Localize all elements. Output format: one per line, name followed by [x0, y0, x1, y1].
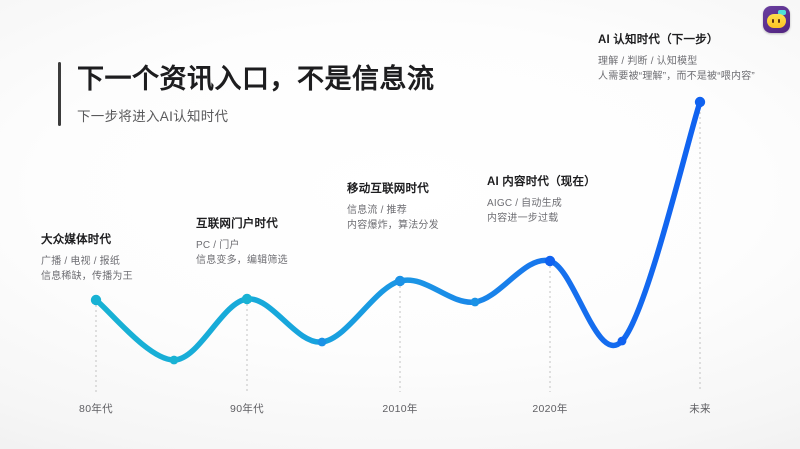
annotation-title: AI 认知时代（下一步） — [598, 32, 755, 48]
x-axis-tick-label: 80年代 — [79, 401, 113, 416]
slide-canvas: 下一个资讯入口，不是信息流 下一步将进入AI认知时代 80年代90年代2010年… — [0, 0, 800, 449]
annotation-group-1: 大众媒体时代 广播 / 电视 / 报纸 信息稀缺，传播为王 — [41, 232, 133, 284]
x-axis-tick-label: 90年代 — [230, 401, 264, 416]
annotation-group-4: AI 内容时代（现在） AIGC / 自动生成 内容进一步过载 — [487, 174, 596, 226]
annotation-line-1: PC / 门户 — [196, 238, 288, 253]
annotation-line-1: 理解 / 判断 / 认知模型 — [598, 54, 755, 69]
annotation-title: 互联网门户时代 — [196, 216, 288, 232]
annotation-line-1: 广播 / 电视 / 报纸 — [41, 254, 133, 269]
data-point-marker[interactable] — [471, 298, 480, 307]
data-point-marker[interactable] — [695, 97, 705, 107]
x-axis-tick-label: 未来 — [689, 401, 711, 416]
annotation-title: AI 内容时代（现在） — [487, 174, 596, 190]
annotation-line-2: 人需要被“理解”，而不是被“喂内容” — [598, 69, 755, 84]
annotation-line-1: 信息流 / 推荐 — [347, 203, 439, 218]
data-point-marker[interactable] — [91, 295, 101, 305]
data-point-marker[interactable] — [170, 356, 179, 365]
x-axis-tick-label: 2010年 — [382, 401, 417, 416]
callout-guide-lines — [96, 102, 700, 392]
annotation-group-5: AI 认知时代（下一步） 理解 / 判断 / 认知模型 人需要被“理解”，而不是… — [598, 32, 755, 84]
annotation-line-2: 信息稀缺，传播为王 — [41, 269, 133, 284]
data-point-marker[interactable] — [395, 276, 405, 286]
annotation-line-2: 信息变多，编辑筛选 — [196, 253, 288, 268]
annotation-title: 移动互联网时代 — [347, 181, 439, 197]
annotation-group-2: 互联网门户时代 PC / 门户 信息变多，编辑筛选 — [196, 216, 288, 268]
annotation-line-2: 内容爆炸，算法分发 — [347, 218, 439, 233]
x-axis-tick-label: 2020年 — [532, 401, 567, 416]
annotation-line-2: 内容进一步过载 — [487, 211, 596, 226]
data-point-marker[interactable] — [242, 294, 252, 304]
data-point-marker[interactable] — [318, 338, 327, 347]
data-point-marker[interactable] — [545, 256, 555, 266]
annotation-line-1: AIGC / 自动生成 — [487, 196, 596, 211]
annotation-title: 大众媒体时代 — [41, 232, 133, 248]
data-point-marker[interactable] — [618, 337, 627, 346]
annotation-group-3: 移动互联网时代 信息流 / 推荐 内容爆炸，算法分发 — [347, 181, 439, 233]
